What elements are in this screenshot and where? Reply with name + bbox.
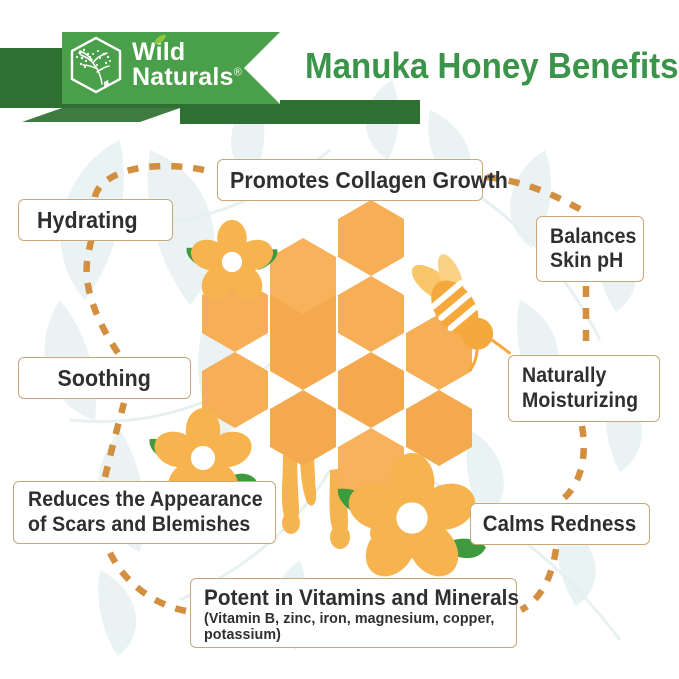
benefit-label-line1: Naturally — [522, 364, 649, 388]
benefit-box-naturally-moisturizing[interactable]: Naturally Moisturizing — [508, 355, 660, 422]
benefit-box-reduces-scars[interactable]: Reduces the Appearance of Scars and Blem… — [13, 481, 276, 544]
benefit-label-line2: Skin pH — [550, 249, 636, 273]
benefit-label-line1: Balances — [550, 225, 636, 249]
benefit-label-sub: (Vitamin B, zinc, iron, magnesium, coppe… — [204, 611, 518, 643]
benefit-box-vitamins-minerals[interactable]: Potent in Vitamins and Minerals (Vitamin… — [190, 578, 517, 648]
benefit-label-main: Potent in Vitamins and Minerals — [204, 587, 497, 609]
benefit-box-collagen[interactable]: Promotes Collagen Growth — [217, 159, 483, 201]
benefit-label: Calms Redness — [483, 511, 637, 537]
benefit-label: Hydrating — [37, 207, 163, 234]
benefit-box-soothing[interactable]: Soothing — [18, 357, 191, 399]
benefit-label-line1: Reduces the Appearance — [28, 488, 258, 513]
benefit-box-calms-redness[interactable]: Calms Redness — [470, 503, 650, 545]
benefit-label: Soothing — [58, 365, 151, 392]
benefit-box-balances-skin-ph[interactable]: Balances Skin pH — [536, 216, 644, 282]
benefit-label: Promotes Collagen Growth — [230, 167, 464, 194]
benefit-label-line2: of Scars and Blemishes — [28, 513, 258, 538]
benefit-box-hydrating[interactable]: Hydrating — [18, 199, 173, 241]
benefit-label-line2: Moisturizing — [522, 389, 649, 413]
infographic-canvas: Wild Naturals® Manuka Honey Benefits — [0, 0, 679, 679]
